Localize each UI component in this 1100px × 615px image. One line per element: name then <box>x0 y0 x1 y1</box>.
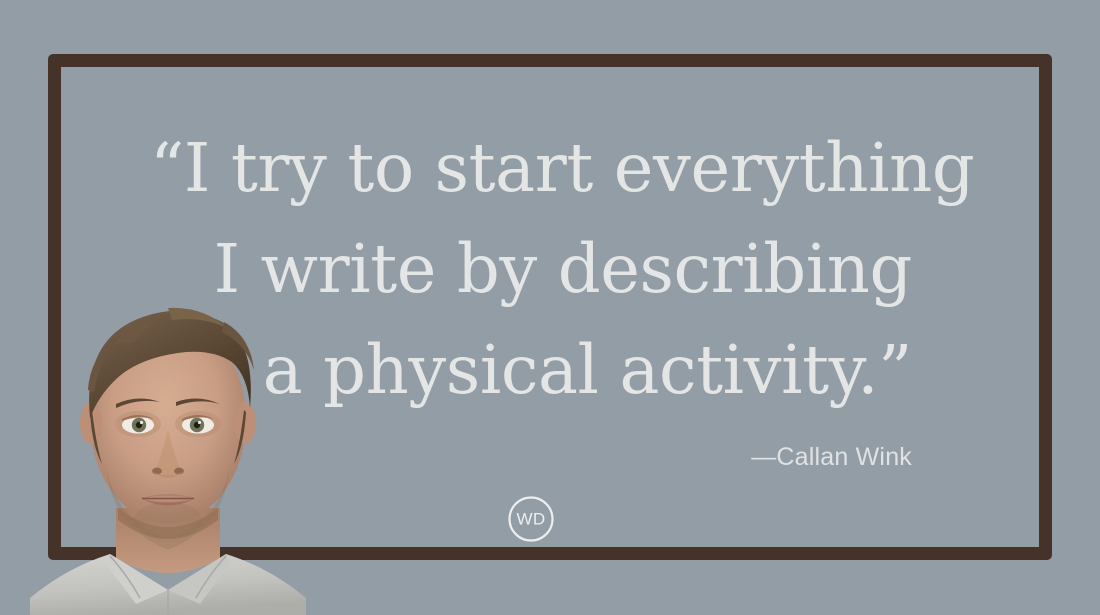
quote-card: “I try to start everything I write by de… <box>0 0 1100 615</box>
quote-line-1: “I try to start everything <box>150 118 912 219</box>
author-portrait <box>18 258 318 615</box>
wd-logo: WD <box>507 495 555 543</box>
quote-attribution: —Callan Wink <box>300 443 912 472</box>
wd-logo-label: WD <box>517 510 546 529</box>
